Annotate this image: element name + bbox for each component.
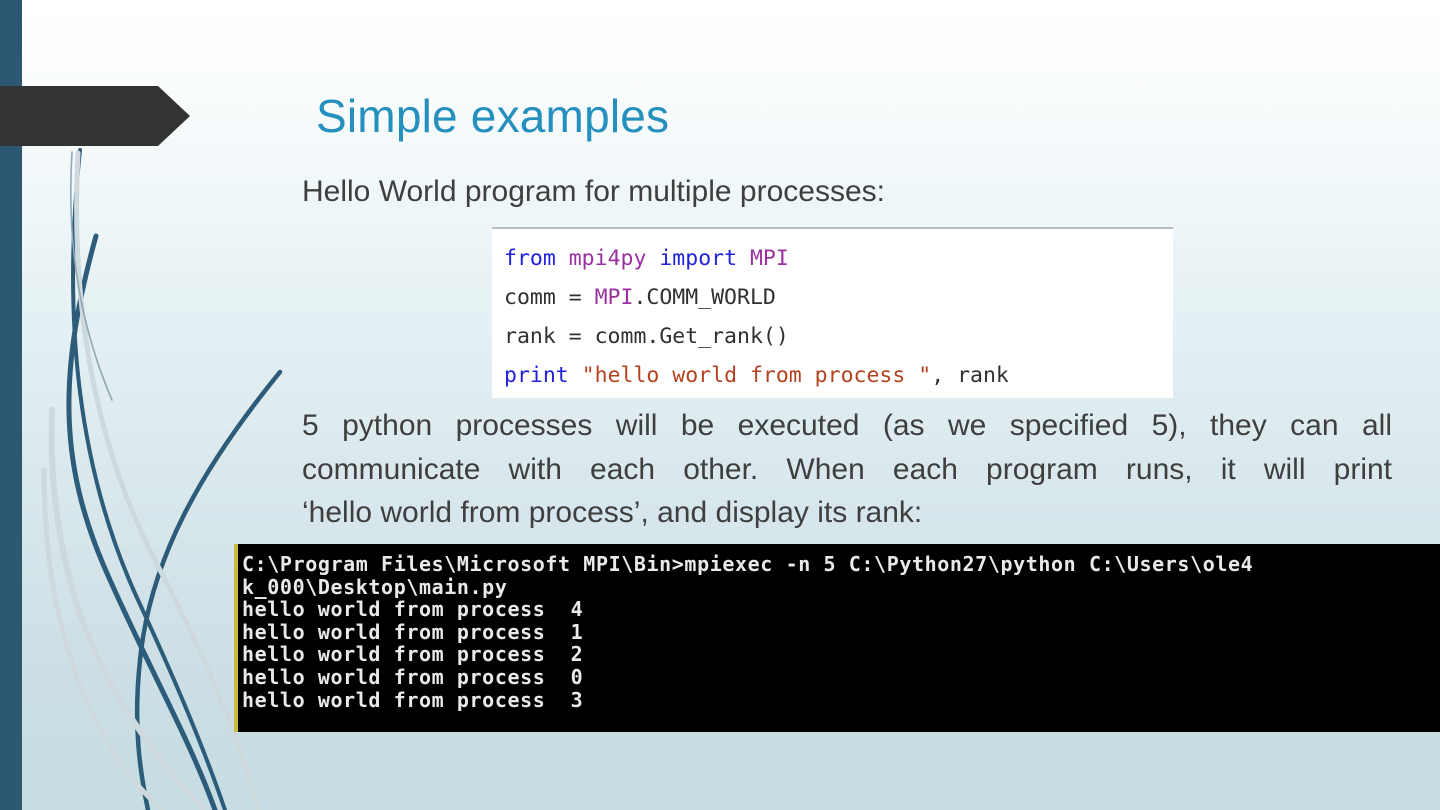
code-token (556, 246, 569, 271)
presentation-slide: Simple examples Hello World program for … (0, 0, 1440, 810)
terminal-line: hello world from process 4 (242, 598, 1440, 621)
terminal-line: hello world from process 3 (242, 689, 1440, 712)
terminal-line: k_000\Desktop\main.py (242, 576, 1440, 599)
code-token: mpi4py (569, 246, 647, 271)
python-code-block: from mpi4py import MPIcomm = MPI.COMM_WO… (492, 227, 1173, 398)
code-token: comm = (504, 285, 595, 310)
intro-text: Hello World program for multiple process… (302, 172, 1402, 212)
terminal-line: C:\Program Files\Microsoft MPI\Bin>mpiex… (242, 553, 1440, 576)
code-token: .COMM_WORLD (633, 285, 775, 310)
terminal-line: hello world from process 2 (242, 643, 1440, 666)
code-line: rank = comm.Get_rank() (504, 317, 1173, 356)
code-token: import (659, 246, 737, 271)
terminal-output-window: C:\Program Files\Microsoft MPI\Bin>mpiex… (234, 544, 1440, 732)
body-paragraph: 5 python processes will be executed (as … (302, 404, 1392, 535)
code-token: MPI (595, 285, 634, 310)
code-token: from (504, 246, 556, 271)
code-token (737, 246, 750, 271)
code-line: from mpi4py import MPI (504, 239, 1173, 278)
terminal-line: hello world from process 0 (242, 666, 1440, 689)
code-token: rank = comm.Get_rank() (504, 324, 789, 349)
code-token (646, 246, 659, 271)
page-title: Simple examples (316, 88, 669, 144)
body-paragraph-line: ‘hello world from process’, and display … (302, 491, 1392, 535)
terminal-line: hello world from process 1 (242, 621, 1440, 644)
code-line: comm = MPI.COMM_WORLD (504, 278, 1173, 317)
code-token: "hello world from process " (582, 363, 932, 388)
body-paragraph-line: 5 python processes will be executed (as … (302, 404, 1392, 448)
code-token: print (504, 363, 569, 388)
code-token: MPI (750, 246, 789, 271)
code-line: print "hello world from process ", rank (504, 356, 1173, 395)
body-paragraph-line: communicate with each other. When each p… (302, 448, 1392, 492)
terminal-text: C:\Program Files\Microsoft MPI\Bin>mpiex… (238, 544, 1440, 711)
code-token (569, 363, 582, 388)
code-token: , rank (931, 363, 1009, 388)
arrow-banner-shape (0, 86, 190, 146)
